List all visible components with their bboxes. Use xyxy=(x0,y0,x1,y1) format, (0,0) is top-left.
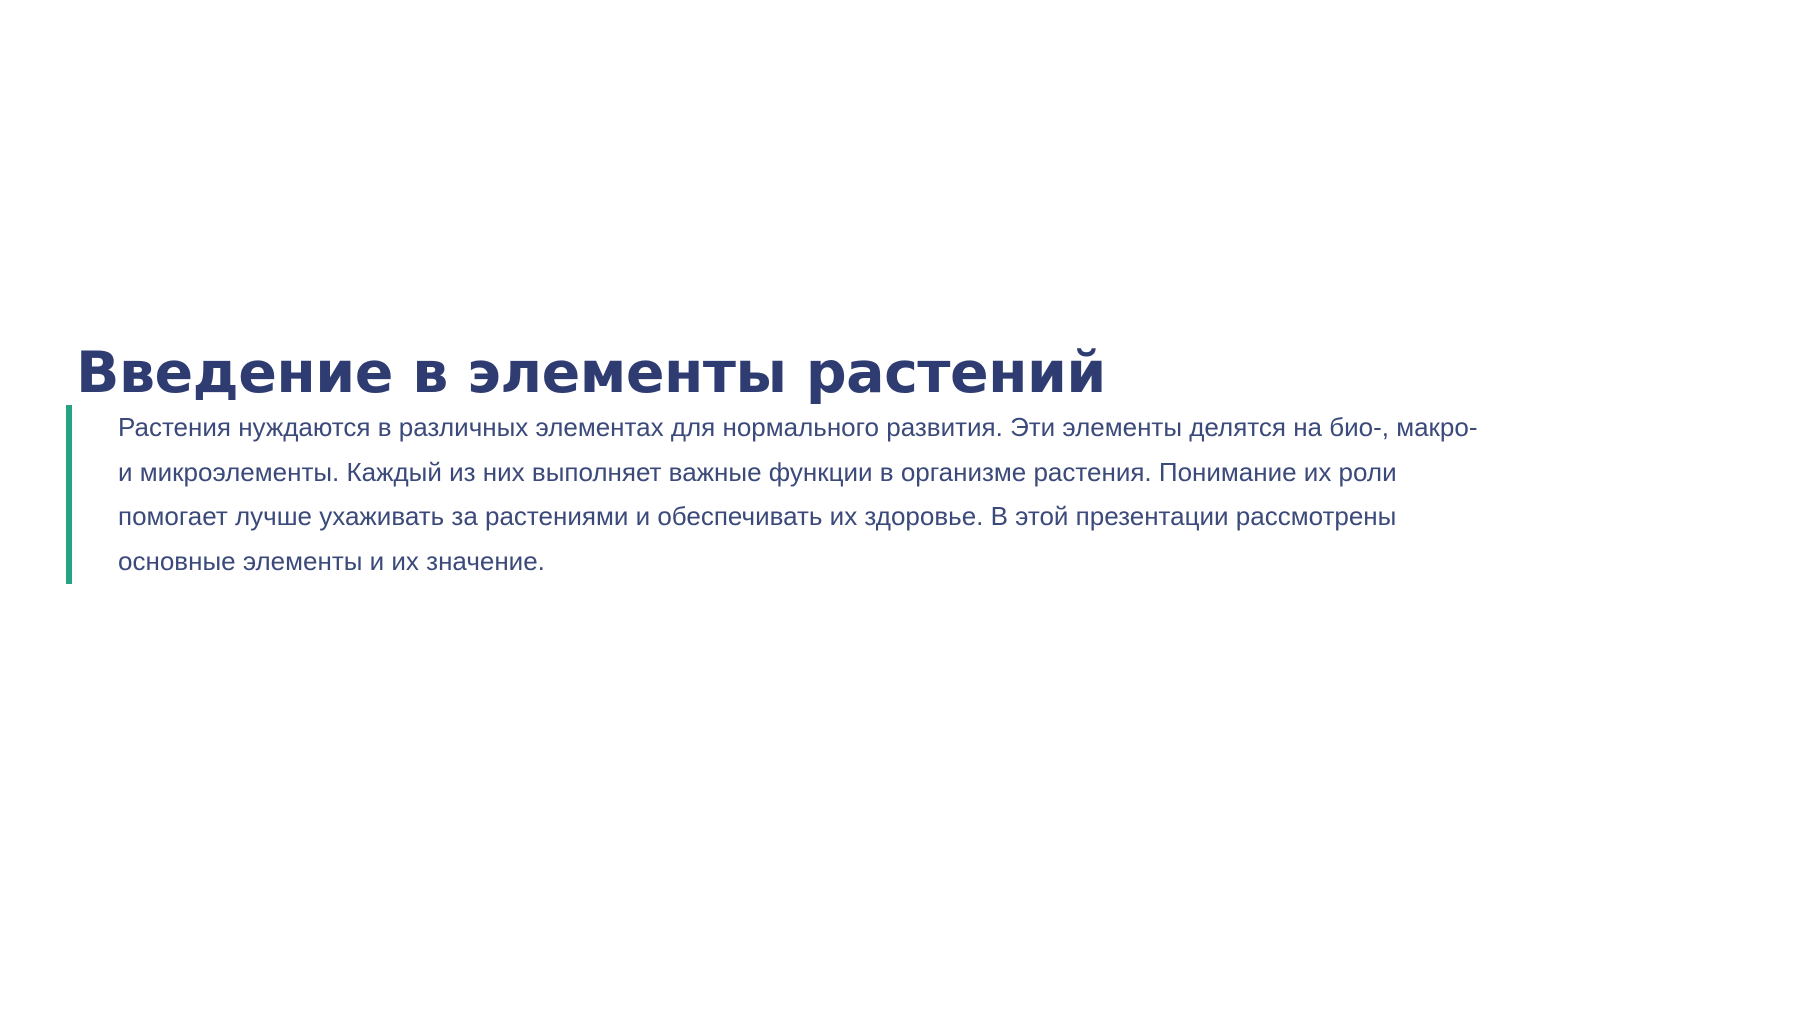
page-title: Введение в элементы растений xyxy=(76,342,1716,406)
slide-canvas: Введение в элементы растений Растения ну… xyxy=(0,0,1800,1013)
body-block: Растения нуждаются в различных элементах… xyxy=(66,405,1496,584)
body-paragraph: Растения нуждаются в различных элементах… xyxy=(72,405,1496,584)
